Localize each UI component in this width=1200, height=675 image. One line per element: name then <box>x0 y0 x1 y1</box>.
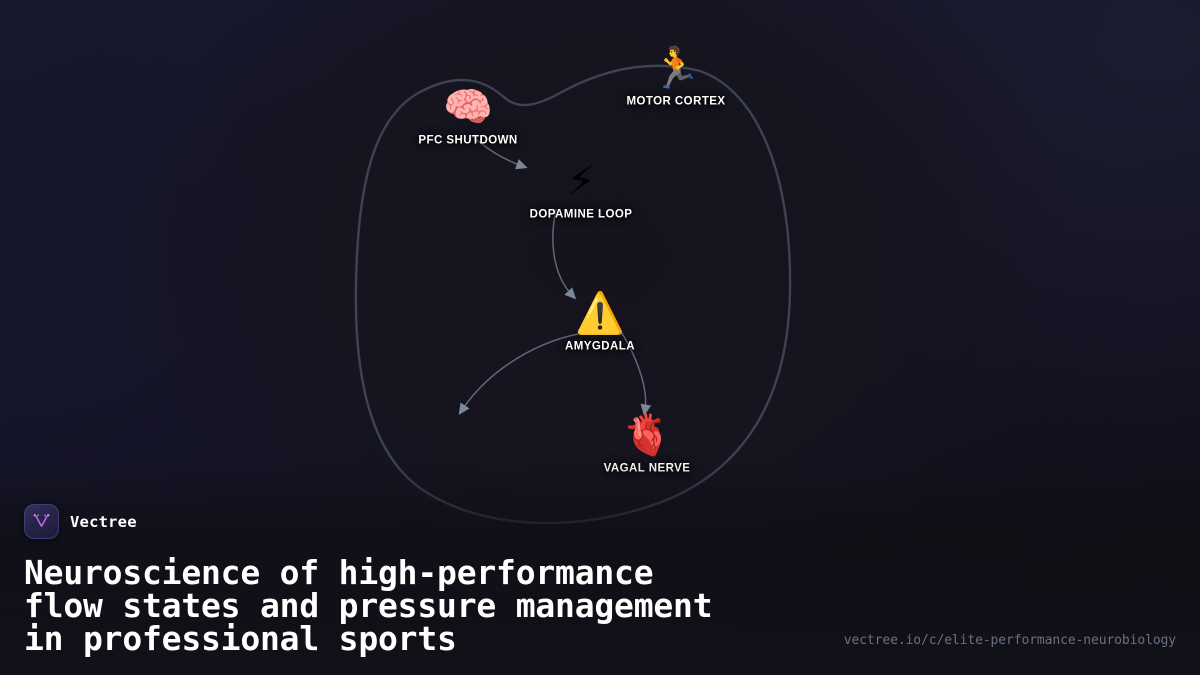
anatomical-heart-icon: 🫀 <box>604 416 691 456</box>
edge-dopamine-loop-to-amygdala <box>553 209 572 295</box>
source-url[interactable]: vectree.io/c/elite-performance-neurobiol… <box>844 633 1176 648</box>
graph-node-label: VAGAL NERVE <box>604 463 691 475</box>
graph-node-label: PFC SHUTDOWN <box>418 135 517 147</box>
warning-triangle-icon: ⚠️ <box>565 294 635 334</box>
graph-node-motor-cortex[interactable]: 🏃 MOTOR CORTEX <box>626 49 725 108</box>
headline-line-1: Neuroscience of high-performance <box>24 556 824 589</box>
brand-row: Vectree <box>24 504 1176 539</box>
graph-node-label: AMYGDALA <box>565 341 635 353</box>
graph-node-pfc-shutdown[interactable]: 🧠 PFC SHUTDOWN <box>418 88 517 147</box>
card-footer: Vectree Neuroscience of high-performance… <box>0 504 1200 675</box>
brain-icon: 🧠 <box>418 88 517 128</box>
edge-amygdala-to-pfc-shutdown <box>462 334 578 410</box>
lightning-bolt-icon: ⚡ <box>530 162 633 202</box>
graph-node-vagal-nerve[interactable]: 🫀 VAGAL NERVE <box>604 416 691 475</box>
page-title: Neuroscience of high-performance flow st… <box>24 556 824 655</box>
social-card: 🏃 MOTOR CORTEX 🧠 PFC SHUTDOWN ⚡ DOPAMINE… <box>0 0 1200 675</box>
graph-node-label: DOPAMINE LOOP <box>530 209 633 221</box>
headline-line-2: flow states and pressure management <box>24 589 824 622</box>
graph-node-label: MOTOR CORTEX <box>626 96 725 108</box>
graph-node-amygdala[interactable]: ⚠️ AMYGDALA <box>565 294 635 353</box>
brand-name: Vectree <box>70 513 137 531</box>
runner-icon: 🏃 <box>626 49 725 89</box>
headline-line-3: in professional sports <box>24 622 824 655</box>
graph-node-dopamine-loop[interactable]: ⚡ DOPAMINE LOOP <box>530 162 633 221</box>
vectree-logo-icon <box>24 504 59 539</box>
v-tree-glyph <box>32 512 51 531</box>
